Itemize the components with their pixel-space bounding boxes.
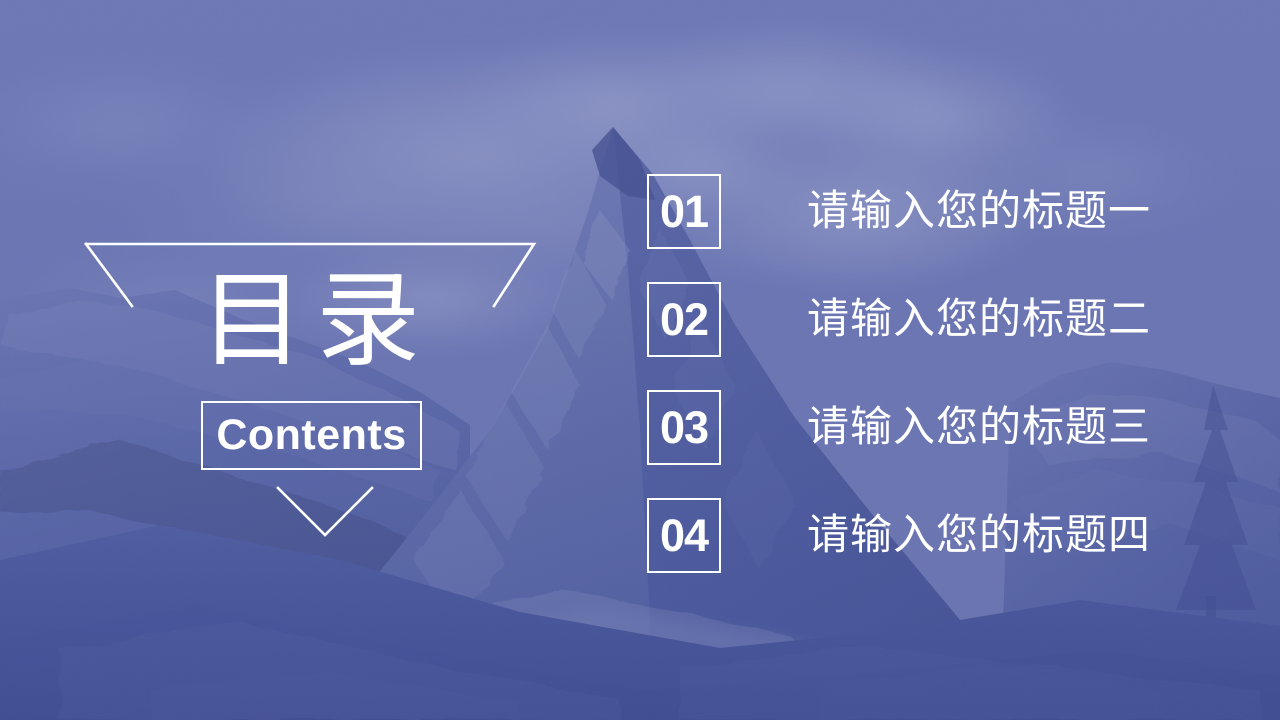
toc-number-box-04: 04: [647, 498, 721, 573]
toc-title[interactable]: 请输入您的标题二: [807, 299, 1151, 341]
toc-number: 04: [660, 513, 708, 558]
toc-title[interactable]: 请输入您的标题一: [807, 191, 1151, 233]
toc-number-box-01: 01: [647, 174, 721, 249]
table-of-contents-list: 01 请输入您的标题一 02 请输入您的标题二 03 请输入您的标题三 04 请…: [647, 174, 1247, 576]
toc-number-box-02: 02: [647, 282, 721, 357]
toc-title[interactable]: 请输入您的标题三: [807, 407, 1151, 449]
contents-label-box: Contents: [201, 401, 422, 470]
toc-number: 02: [660, 297, 708, 342]
title-block: 目录 Contents: [0, 0, 620, 720]
toc-item-04[interactable]: 04 请输入您的标题四: [647, 498, 1247, 573]
toc-title[interactable]: 请输入您的标题四: [807, 515, 1151, 557]
page-title: 目录: [0, 262, 620, 382]
toc-item-03[interactable]: 03 请输入您的标题三: [647, 390, 1247, 465]
toc-number: 03: [660, 405, 708, 450]
toc-item-02[interactable]: 02 请输入您的标题二: [647, 282, 1247, 357]
toc-number-box-03: 03: [647, 390, 721, 465]
chevron-down-icon: [265, 480, 385, 550]
presentation-slide: 目录 Contents 01 请输入您的标题一 02 请输入您的标题二 03: [0, 0, 1280, 720]
toc-number: 01: [660, 189, 708, 234]
contents-subtitle: Contents: [216, 414, 406, 457]
toc-item-01[interactable]: 01 请输入您的标题一: [647, 174, 1247, 249]
